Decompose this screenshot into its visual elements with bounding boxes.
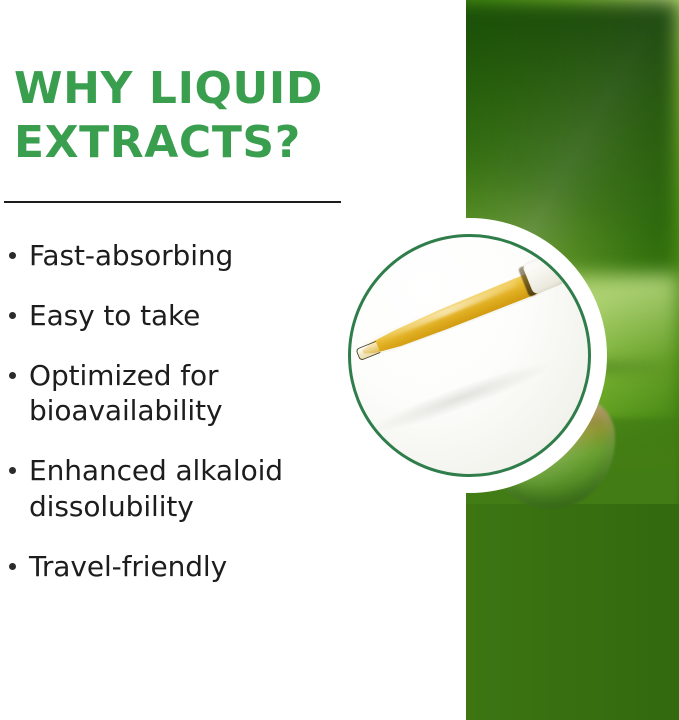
bullet-point-icon	[9, 467, 16, 474]
pipette-shadow	[367, 355, 553, 441]
product-inset-circle	[348, 234, 591, 477]
bullet-point-icon	[9, 563, 16, 570]
content-column: WHY LIQUID EXTRACTS? Fast-absorbing Easy…	[0, 0, 352, 720]
promo-graphic: WHY LIQUID EXTRACTS? Fast-absorbing Easy…	[0, 0, 679, 720]
benefit-label: Easy to take	[29, 298, 200, 334]
circle-frame	[348, 234, 591, 477]
title-divider	[4, 201, 341, 203]
dropper-pipette-icon	[352, 256, 562, 372]
list-item: Travel-friendly	[4, 549, 348, 585]
page-title-line-1: WHY LIQUID	[14, 62, 350, 116]
benefit-label: Travel-friendly	[29, 549, 227, 585]
benefit-label: Enhanced alkaloid dissolubility	[29, 453, 348, 525]
page-title: WHY LIQUID EXTRACTS?	[14, 62, 350, 169]
bullet-point-icon	[9, 252, 16, 259]
bullet-point-icon	[9, 312, 16, 319]
leaf-lower-field-solid	[466, 504, 679, 720]
page-title-line-2: EXTRACTS?	[14, 116, 350, 170]
benefit-label: Optimized for bioavailability	[29, 358, 348, 430]
list-item: Enhanced alkaloid dissolubility	[4, 453, 348, 525]
list-item: Easy to take	[4, 298, 348, 334]
pipette-tip	[355, 341, 380, 361]
benefit-label: Fast-absorbing	[29, 238, 233, 274]
bullet-point-icon	[9, 372, 16, 379]
list-item: Optimized for bioavailability	[4, 358, 348, 430]
benefits-list: Fast-absorbing Easy to take Optimized fo…	[4, 238, 348, 609]
list-item: Fast-absorbing	[4, 238, 348, 274]
